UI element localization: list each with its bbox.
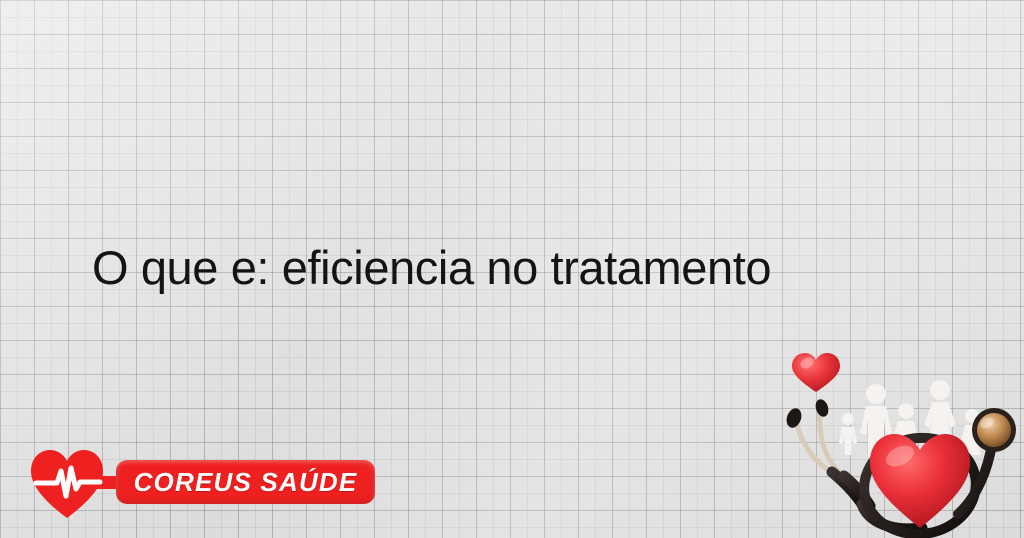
stethoscope-chestpiece	[972, 408, 1016, 452]
brand-name-badge: COREUS SAÚDE	[116, 460, 375, 504]
stethoscope-earpieces	[784, 398, 830, 430]
heart-pulse-icon	[30, 448, 130, 520]
brand-logo: COREUS SAÚDE	[30, 448, 350, 520]
stethoscope-heart-family-illustration	[772, 346, 1024, 538]
brand-name-text: COREUS SAÚDE	[134, 467, 358, 498]
slide-canvas: O que e: eficiencia no tratamento COREUS…	[0, 0, 1024, 538]
small-heart	[792, 353, 840, 392]
page-title: O que e: eficiencia no tratamento	[92, 238, 952, 298]
stethoscope-tubing	[796, 412, 844, 476]
